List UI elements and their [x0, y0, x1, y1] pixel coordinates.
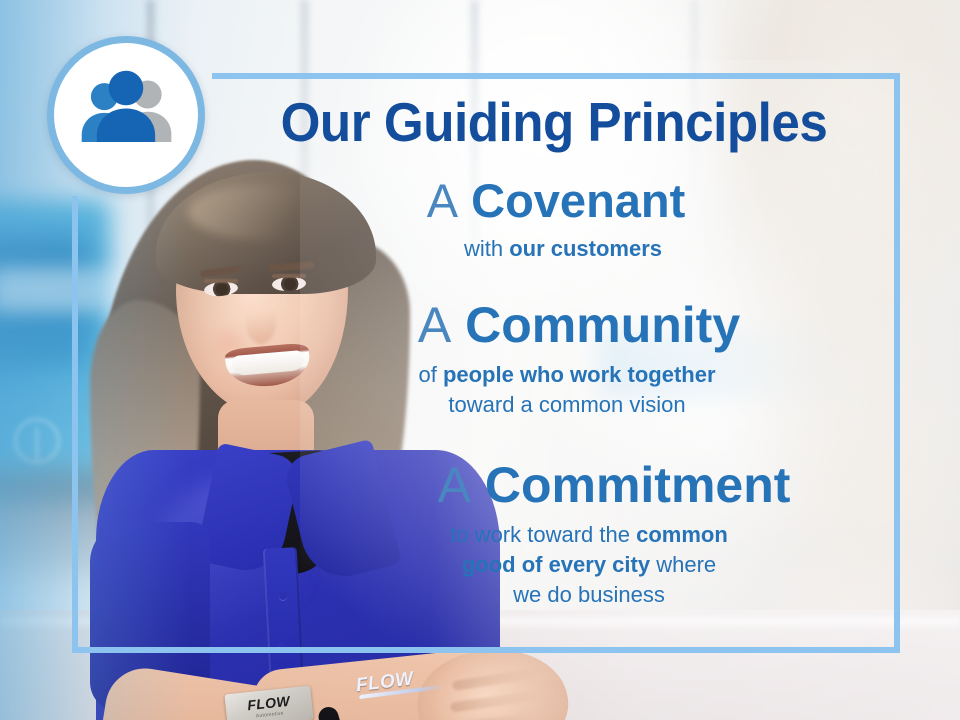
- principle-line: toward a common vision: [240, 390, 894, 419]
- principle-text-emphasis: our customers: [509, 236, 662, 261]
- principle-description: with our customers: [214, 234, 894, 263]
- blurred-manufacturer-emblem-icon: [14, 418, 60, 464]
- principle-heading: A Covenant: [214, 176, 894, 226]
- principle-line: with our customers: [232, 234, 894, 263]
- principle-text: to work toward the: [450, 522, 636, 547]
- principle-keyword: Commitment: [485, 457, 791, 513]
- principle-text-emphasis: good of every city: [462, 552, 650, 577]
- frame-border-bottom: [72, 647, 900, 653]
- principle-text-emphasis: common: [636, 522, 728, 547]
- principle-text: toward a common vision: [448, 392, 685, 417]
- principle-heading: A Community: [214, 299, 894, 352]
- principle-line: to work toward the common: [284, 520, 894, 550]
- principle-line: good of every city where: [284, 550, 894, 580]
- principle-text: of: [418, 362, 442, 387]
- principle-heading: A Commitment: [214, 459, 894, 512]
- principle-keyword: Covenant: [471, 174, 685, 227]
- page-title: Our Guiding Principles: [238, 94, 870, 150]
- people-group-icon: [72, 61, 180, 169]
- principles-list: A Covenant with our customers A Communit…: [214, 176, 894, 610]
- nametag-brand: FLOW: [247, 694, 291, 712]
- principle-block-covenant: A Covenant with our customers: [214, 176, 894, 263]
- principle-text: with: [464, 236, 509, 261]
- principle-block-community: A Community of people who work together …: [214, 299, 894, 419]
- principle-article: A: [427, 174, 458, 227]
- principle-keyword: Community: [465, 297, 740, 353]
- poster-canvas: FLOW FLOW Automotive Our: [0, 0, 960, 720]
- principle-text: where: [650, 552, 716, 577]
- principle-article: A: [438, 457, 471, 513]
- principle-description: of people who work together toward a com…: [214, 360, 894, 419]
- principle-article: A: [418, 297, 451, 353]
- people-group-badge: [47, 36, 205, 194]
- principle-text: we do business: [513, 582, 665, 607]
- frame-border-right: [894, 73, 900, 653]
- frame-border-left: [72, 196, 78, 653]
- principle-description: to work toward the common good of every …: [214, 520, 894, 610]
- principle-line: of people who work together: [240, 360, 894, 389]
- nametag-subtext: Automotive: [256, 712, 284, 720]
- frame-border-top: [212, 73, 900, 79]
- principle-block-commitment: A Commitment to work toward the common g…: [214, 459, 894, 610]
- principle-line: we do business: [284, 580, 894, 610]
- principle-text-emphasis: people who work together: [443, 362, 716, 387]
